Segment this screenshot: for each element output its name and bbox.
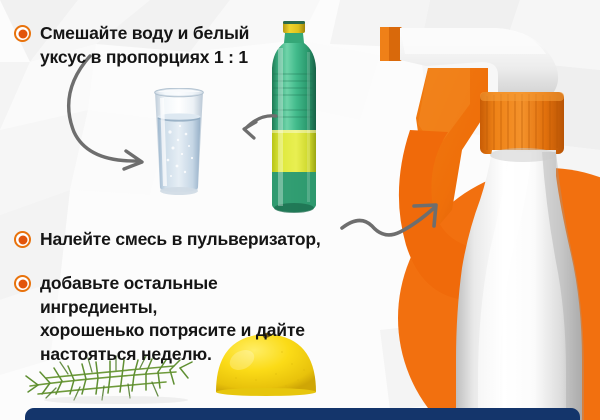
arrow-bottle-to-glass-icon (220, 108, 280, 148)
orange-dot-icon (14, 25, 31, 42)
bottom-navy-bar (25, 408, 580, 420)
step-item-2: Налейте смесь в пульверизатор, (14, 228, 334, 252)
step-1-label: Смешайте воду и белый уксус в пропорциях… (40, 22, 249, 69)
step-3-label: добавьте остальные ингредиенты, хорошень… (40, 272, 314, 366)
step-item-1: Смешайте воду и белый уксус в пропорциях… (14, 22, 289, 69)
arrow-text-to-glass-icon (52, 52, 172, 172)
orange-dot-icon (14, 231, 31, 248)
arrow-text-to-spray-icon (338, 192, 458, 270)
infographic-canvas: Смешайте воду и белый уксус в пропорциях… (0, 0, 600, 420)
orange-dot-icon (14, 275, 31, 292)
step-2-label: Налейте смесь в пульверизатор, (40, 228, 321, 252)
step-item-3: добавьте остальные ингредиенты, хорошень… (14, 272, 314, 366)
